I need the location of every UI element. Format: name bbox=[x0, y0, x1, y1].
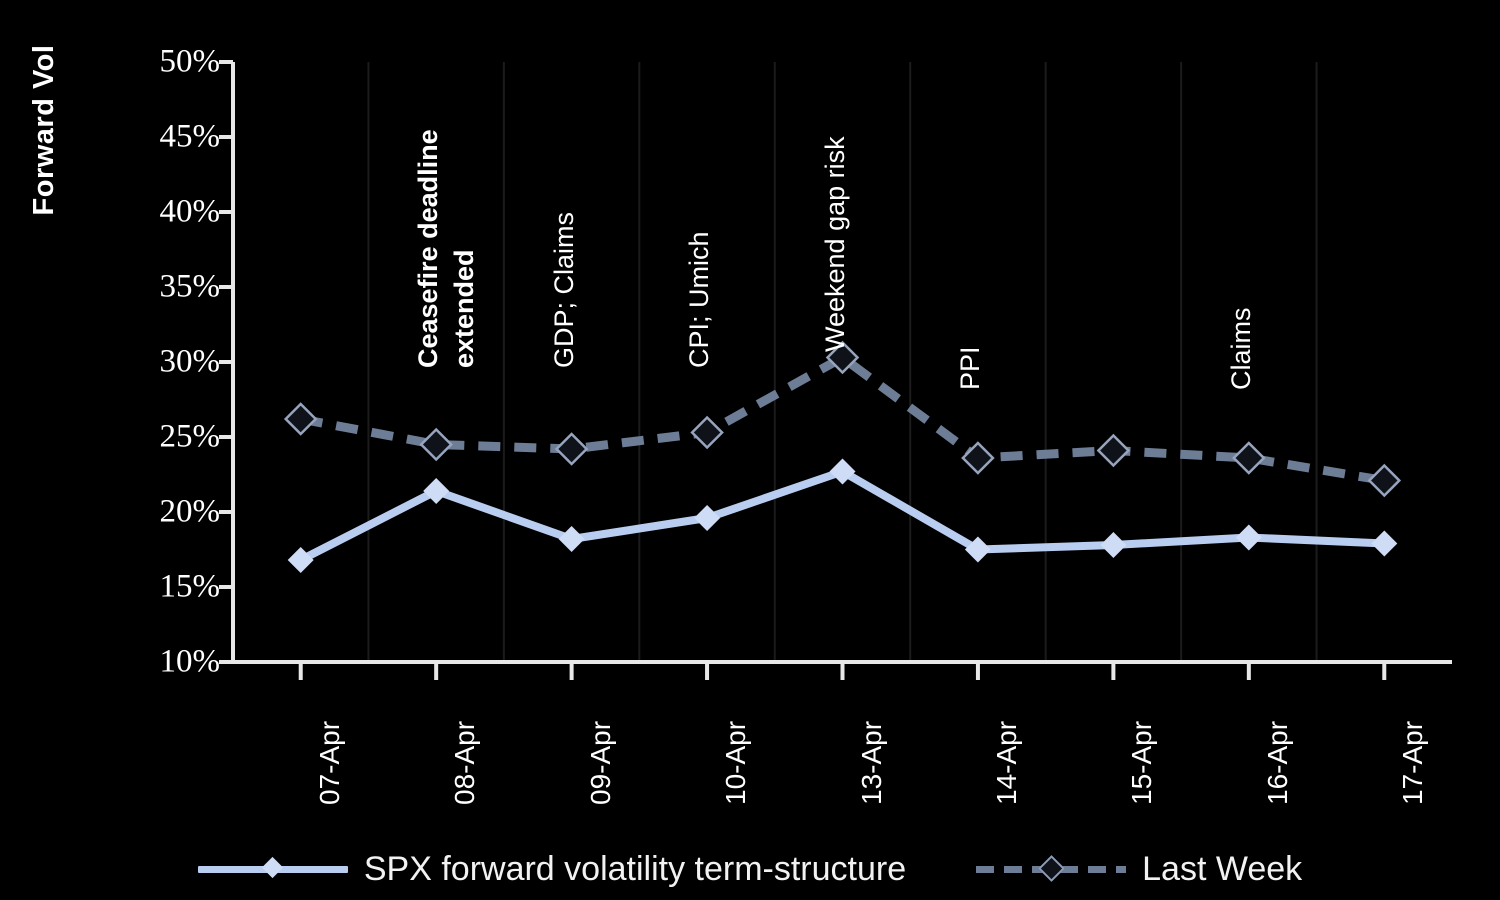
legend-item-last-week[interactable]: Last Week bbox=[976, 850, 1302, 889]
x-axis-tick-label: 10-Apr bbox=[720, 721, 752, 805]
annotation-ceasefire: Ceasefire deadline bbox=[414, 129, 442, 368]
annotation-ppi: PPI bbox=[956, 346, 984, 390]
data-point-marker[interactable] bbox=[1236, 525, 1262, 551]
annotation-weekend-gap: Weekend gap risk bbox=[821, 136, 849, 352]
annotation-gdp-claims: GDP; Claims bbox=[550, 212, 578, 368]
data-point-marker[interactable] bbox=[963, 443, 993, 473]
x-axis-tick-label: 16-Apr bbox=[1262, 721, 1294, 805]
annotation-ceasefire: extended bbox=[450, 249, 478, 368]
legend-swatch-dashed-line-icon bbox=[976, 859, 1126, 879]
x-axis-tick-label: 15-Apr bbox=[1126, 721, 1158, 805]
data-point-marker[interactable] bbox=[559, 526, 585, 552]
series-line-spx bbox=[301, 472, 1385, 561]
annotation-cpi-umich: CPI; Umich bbox=[685, 231, 713, 368]
annotation-claims: Claims bbox=[1227, 307, 1255, 390]
chart-canvas: Forward Vol 50%45%40%35%30%25%20%15%10% … bbox=[0, 0, 1500, 900]
x-axis-tick-label: 17-Apr bbox=[1397, 721, 1429, 805]
x-axis-tick-label: 09-Apr bbox=[585, 721, 617, 805]
x-axis-tick-label: 08-Apr bbox=[449, 721, 481, 805]
data-point-marker[interactable] bbox=[421, 430, 451, 460]
legend-item-spx[interactable]: SPX forward volatility term-structure bbox=[198, 850, 906, 889]
x-axis-tick-label: 13-Apr bbox=[856, 721, 888, 805]
legend-label-last-week: Last Week bbox=[1142, 850, 1302, 889]
data-point-marker[interactable] bbox=[1234, 443, 1264, 473]
data-point-marker[interactable] bbox=[1098, 436, 1128, 466]
data-point-marker[interactable] bbox=[692, 418, 722, 448]
legend-label-spx: SPX forward volatility term-structure bbox=[364, 850, 906, 889]
data-point-marker[interactable] bbox=[694, 505, 720, 531]
data-point-marker[interactable] bbox=[557, 434, 587, 464]
data-point-marker[interactable] bbox=[1371, 531, 1397, 557]
data-point-marker[interactable] bbox=[286, 404, 316, 434]
data-point-marker[interactable] bbox=[1369, 466, 1399, 496]
data-point-marker[interactable] bbox=[1100, 532, 1126, 558]
legend-swatch-solid-line-icon bbox=[198, 859, 348, 879]
x-axis-tick-label: 07-Apr bbox=[314, 721, 346, 805]
x-axis-tick-label: 14-Apr bbox=[991, 721, 1023, 805]
chart-legend: SPX forward volatility term-structure La… bbox=[0, 838, 1500, 900]
